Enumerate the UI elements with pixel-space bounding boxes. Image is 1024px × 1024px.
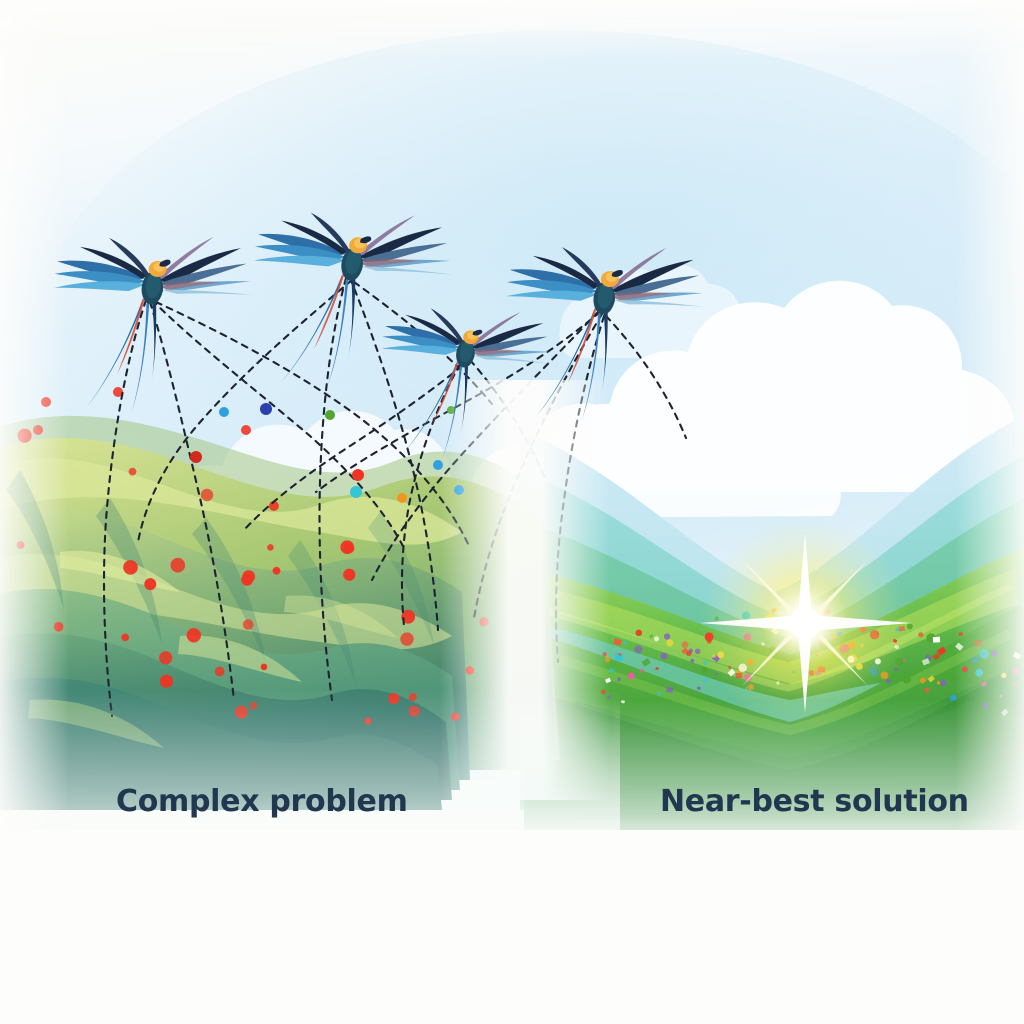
confetti-speck xyxy=(624,641,628,645)
confetti-speck xyxy=(920,678,926,684)
confetti-speck xyxy=(918,632,923,637)
candidate-solution-dot xyxy=(215,667,225,677)
confetti-speck xyxy=(664,633,670,639)
caption-near-best-solution: Near-best solution xyxy=(660,784,969,819)
candidate-solution-dot xyxy=(261,664,268,671)
evaluated-point-8 xyxy=(397,493,407,503)
confetti-speck xyxy=(701,667,707,673)
evaluated-point-4 xyxy=(190,451,202,463)
candidate-solution-dot xyxy=(243,619,254,630)
confetti-speck xyxy=(666,639,673,646)
confetti-speck xyxy=(666,687,673,693)
confetti-speck xyxy=(636,630,643,637)
evaluated-point-2 xyxy=(260,403,272,415)
candidate-solution-dot xyxy=(123,560,138,575)
confetti-speck xyxy=(689,649,693,653)
candidate-solution-dot xyxy=(201,489,213,501)
confetti-speck xyxy=(933,637,940,643)
confetti-speck xyxy=(654,636,659,641)
evaluated-point-5 xyxy=(352,469,364,481)
candidate-solution-dot xyxy=(160,675,173,688)
candidate-solution-dot xyxy=(121,634,129,642)
candidate-solution-dot xyxy=(400,632,413,645)
confetti-speck xyxy=(937,681,940,684)
confetti-speck xyxy=(940,680,946,686)
confetti-speck xyxy=(697,687,701,690)
confetti-speck xyxy=(617,677,621,681)
confetti-speck xyxy=(903,675,911,683)
confetti-speck xyxy=(634,645,642,653)
candidate-solution-dot xyxy=(267,544,274,551)
candidate-solution-dot xyxy=(344,543,355,554)
confetti-speck xyxy=(661,653,668,660)
candidate-solution-dot xyxy=(343,569,355,581)
illustration-canvas: Complex problem Near-best solution xyxy=(0,0,1024,1024)
evaluated-point-3 xyxy=(325,410,335,420)
candidate-solution-dot xyxy=(241,574,253,586)
candidate-solution-dot xyxy=(273,567,281,575)
candidate-solution-dot xyxy=(241,425,251,435)
candidate-solution-dot xyxy=(187,628,201,642)
candidate-solution-dot xyxy=(144,578,156,590)
candidate-solution-dot xyxy=(129,468,137,476)
confetti-speck xyxy=(691,659,695,663)
confetti-speck xyxy=(682,641,689,648)
confetti-speck xyxy=(903,659,906,662)
confetti-speck xyxy=(695,649,701,655)
candidate-solution-dot xyxy=(159,651,172,664)
evaluated-point-1 xyxy=(219,407,229,417)
confetti-speck xyxy=(628,673,635,680)
scene-artwork xyxy=(0,0,1024,1024)
confetti-speck xyxy=(924,688,929,693)
confetti-speck xyxy=(640,669,644,673)
evaluated-point-7 xyxy=(350,486,362,498)
caption-complex-problem: Complex problem xyxy=(116,784,408,819)
confetti-speck xyxy=(703,661,708,666)
candidate-solution-dot xyxy=(171,558,186,573)
